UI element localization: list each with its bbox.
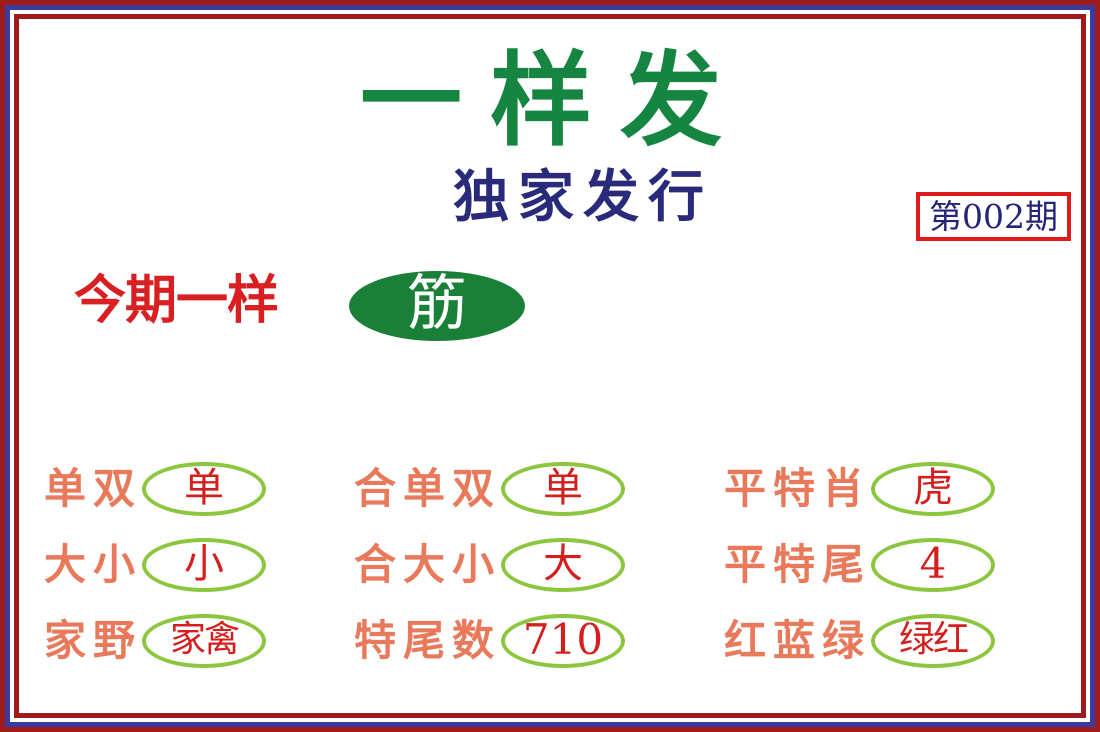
- subtitle: 独家发行: [444, 169, 713, 225]
- prediction-label: 合大小: [347, 544, 501, 586]
- prediction-value: 单: [184, 468, 224, 508]
- prediction-value-bubble: 710: [501, 614, 625, 668]
- prediction-row: 红蓝绿 绿红: [717, 609, 1077, 673]
- prediction-label: 合单双: [347, 468, 501, 510]
- prediction-label: 家野: [37, 620, 142, 662]
- prediction-value-bubble: 单: [501, 462, 625, 516]
- prediction-value: 小: [184, 544, 224, 584]
- prediction-value-bubble: 4: [871, 538, 995, 592]
- prediction-label: 单双: [37, 468, 142, 510]
- predictions-column-2: 合单双 单 合大小 大 特尾数 710: [347, 457, 717, 673]
- prediction-value: 4: [920, 543, 947, 585]
- predictions-column-1: 单双 单 大小 小 家野 家禽: [19, 457, 347, 673]
- prediction-row: 家野 家禽: [37, 609, 347, 673]
- issue-badge-label: 第002期: [929, 200, 1058, 233]
- prediction-value-bubble: 虎: [871, 462, 995, 516]
- poster-canvas: 一样发 独家发行 第002期 今期一样 筋 单双 单 大小: [19, 19, 1081, 713]
- prediction-value-bubble: 家禽: [142, 614, 266, 668]
- prediction-value: 710: [523, 619, 603, 661]
- prediction-value: 虎: [913, 468, 953, 508]
- prediction-row: 单双 单: [37, 457, 347, 521]
- prediction-value-bubble: 绿红: [871, 614, 995, 668]
- prediction-row: 平特尾 4: [717, 533, 1077, 597]
- prediction-value: 大: [543, 544, 583, 584]
- predictions-grid: 单双 单 大小 小 家野 家禽: [19, 457, 1081, 673]
- poster-root: 一样发 独家发行 第002期 今期一样 筋 单双 单 大小: [0, 0, 1100, 732]
- predictions-column-3: 平特肖 虎 平特尾 4 红蓝绿 绿红: [717, 457, 1077, 673]
- prediction-row: 合单双 单: [347, 457, 717, 521]
- prediction-label: 大小: [37, 544, 142, 586]
- tip-value-bubble: 筋: [349, 271, 525, 341]
- prediction-label: 红蓝绿: [717, 620, 871, 662]
- issue-badge: 第002期: [916, 192, 1071, 241]
- prediction-row: 特尾数 710: [347, 609, 717, 673]
- page-title: 一样发: [251, 51, 831, 153]
- prediction-value: 家禽: [170, 622, 238, 658]
- tip-value: 筋: [407, 274, 467, 334]
- prediction-label: 特尾数: [347, 620, 501, 662]
- prediction-value: 绿红: [899, 622, 967, 658]
- prediction-row: 大小 小: [37, 533, 347, 597]
- tip-label: 今期一样: [74, 275, 278, 327]
- prediction-value: 单: [543, 468, 583, 508]
- prediction-label: 平特肖: [717, 468, 871, 510]
- prediction-row: 平特肖 虎: [717, 457, 1077, 521]
- prediction-value-bubble: 大: [501, 538, 625, 592]
- prediction-value-bubble: 单: [142, 462, 266, 516]
- prediction-row: 合大小 大: [347, 533, 717, 597]
- prediction-value-bubble: 小: [142, 538, 266, 592]
- prediction-label: 平特尾: [717, 544, 871, 586]
